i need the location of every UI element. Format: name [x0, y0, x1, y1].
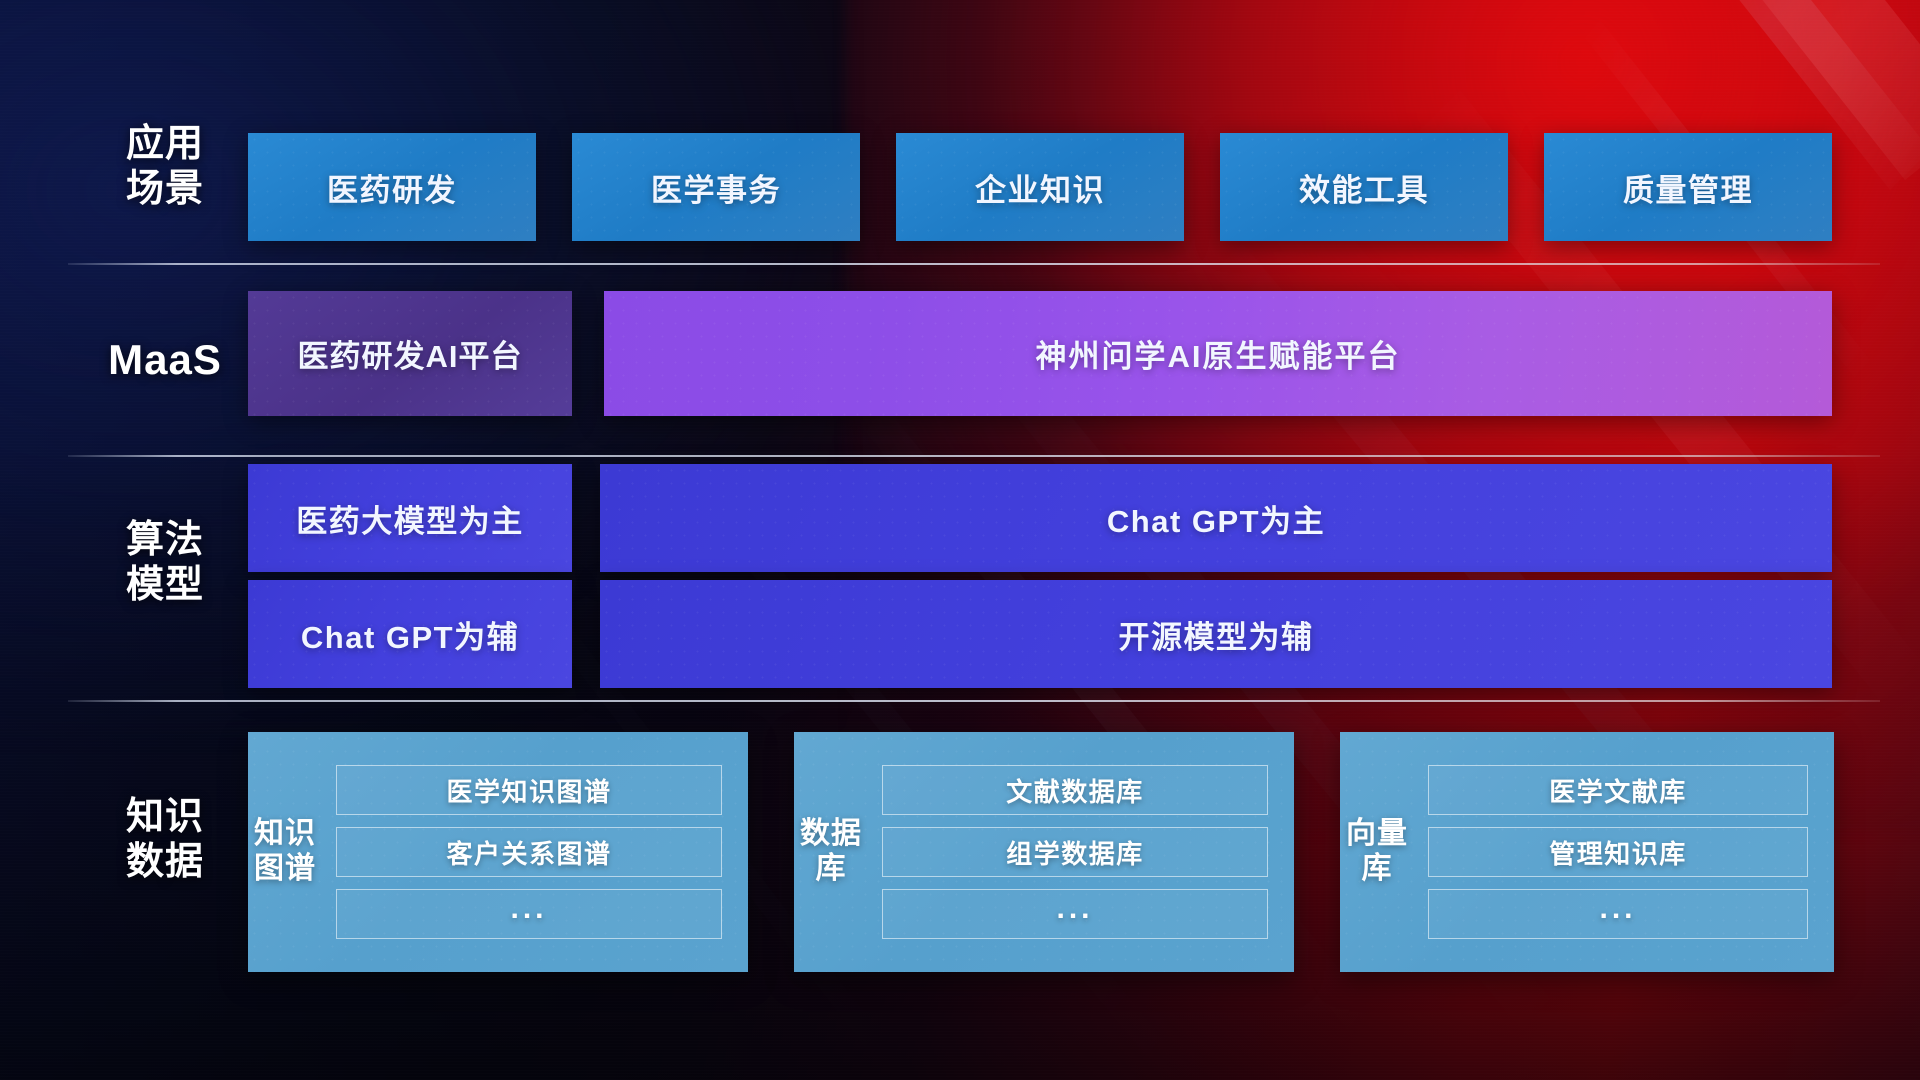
row-label-line-2: 模型: [90, 563, 240, 608]
knowledge-item-more[interactable]: ...: [336, 889, 722, 939]
row-label-line-1: 知识: [90, 795, 240, 840]
scenario-card-label: 质量管理: [1623, 165, 1753, 210]
maas-card-pharma-ai-platform[interactable]: 医药研发AI平台: [248, 291, 572, 416]
knowledge-group-knowledge-graph[interactable]: 知识图谱 医学知识图谱 客户关系图谱 ...: [248, 732, 748, 972]
row-separator-2: [68, 455, 1880, 457]
knowledge-item-label: 医学文献库: [1549, 772, 1687, 809]
row-label-line-1: 算法: [90, 518, 240, 563]
row-label-application-scenario: 应用 场景: [90, 122, 240, 212]
knowledge-item-label: 医学知识图谱: [446, 772, 611, 809]
algorithm-card-chatgpt-primary[interactable]: Chat GPT为主: [600, 464, 1832, 572]
algorithm-card-chatgpt-secondary[interactable]: Chat GPT为辅: [248, 580, 572, 688]
knowledge-item-label: ...: [1599, 892, 1636, 926]
knowledge-group-database[interactable]: 数据库 文献数据库 组学数据库 ...: [794, 732, 1294, 972]
knowledge-item-more[interactable]: ...: [882, 889, 1268, 939]
knowledge-group-vector-store[interactable]: 向量库 医学文献库 管理知识库 ...: [1340, 732, 1834, 972]
row-label-line-2: 场景: [90, 167, 240, 212]
knowledge-item-label: ...: [510, 892, 547, 926]
scenario-card-quality-management[interactable]: 质量管理: [1544, 133, 1832, 241]
knowledge-item-more[interactable]: ...: [1428, 889, 1808, 939]
row-label-line-2: 数据: [90, 840, 240, 885]
knowledge-group-title: 知识图谱: [248, 732, 322, 972]
knowledge-item[interactable]: 医学知识图谱: [336, 765, 722, 815]
algorithm-card-label: Chat GPT为辅: [301, 612, 519, 657]
knowledge-item-label: 管理知识库: [1549, 834, 1687, 871]
row-separator-3: [68, 700, 1880, 702]
row-label-maas: MaaS: [90, 335, 240, 385]
algorithm-card-label: 医药大模型为主: [296, 496, 524, 541]
knowledge-group-item-list: 文献数据库 组学数据库 ...: [868, 732, 1294, 972]
scenario-card-efficiency-tools[interactable]: 效能工具: [1220, 133, 1508, 241]
row-label-algorithm-model: 算法 模型: [90, 518, 240, 608]
algorithm-card-label: Chat GPT为主: [1107, 496, 1325, 541]
knowledge-item-label: 客户关系图谱: [446, 834, 611, 871]
knowledge-group-title: 向量库: [1340, 732, 1414, 972]
algorithm-card-opensource-model-secondary[interactable]: 开源模型为辅: [600, 580, 1832, 688]
scenario-card-label: 医药研发: [327, 165, 457, 210]
knowledge-item[interactable]: 医学文献库: [1428, 765, 1808, 815]
knowledge-item[interactable]: 文献数据库: [882, 765, 1268, 815]
algorithm-card-label: 开源模型为辅: [1119, 612, 1314, 657]
maas-card-label: 医药研发AI平台: [298, 331, 523, 376]
row-label-knowledge-data: 知识 数据: [90, 795, 240, 885]
architecture-diagram-slide: 应用 场景 医药研发 医学事务 企业知识 效能工具 质量管理 MaaS 医药研发…: [0, 0, 1920, 1080]
knowledge-item[interactable]: 管理知识库: [1428, 827, 1808, 877]
maas-card-label: 神州问学AI原生赋能平台: [1036, 331, 1401, 376]
row-separator-1: [68, 263, 1880, 265]
scenario-card-pharma-rnd[interactable]: 医药研发: [248, 133, 536, 241]
scenario-card-label: 企业知识: [975, 165, 1105, 210]
knowledge-item-label: ...: [1056, 892, 1093, 926]
row-label-line-1: 应用: [90, 122, 240, 167]
knowledge-item[interactable]: 客户关系图谱: [336, 827, 722, 877]
scenario-card-label: 医学事务: [651, 165, 781, 210]
knowledge-group-item-list: 医学知识图谱 客户关系图谱 ...: [322, 732, 748, 972]
maas-card-shenzhou-wenxue-platform[interactable]: 神州问学AI原生赋能平台: [604, 291, 1832, 416]
knowledge-item-label: 组学数据库: [1006, 834, 1144, 871]
knowledge-item[interactable]: 组学数据库: [882, 827, 1268, 877]
algorithm-card-pharma-large-model-primary[interactable]: 医药大模型为主: [248, 464, 572, 572]
knowledge-group-title: 数据库: [794, 732, 868, 972]
scenario-card-enterprise-knowledge[interactable]: 企业知识: [896, 133, 1184, 241]
scenario-card-medical-affairs[interactable]: 医学事务: [572, 133, 860, 241]
knowledge-group-item-list: 医学文献库 管理知识库 ...: [1414, 732, 1834, 972]
knowledge-item-label: 文献数据库: [1006, 772, 1144, 809]
scenario-card-label: 效能工具: [1299, 165, 1429, 210]
row-label-text: MaaS: [90, 335, 240, 385]
